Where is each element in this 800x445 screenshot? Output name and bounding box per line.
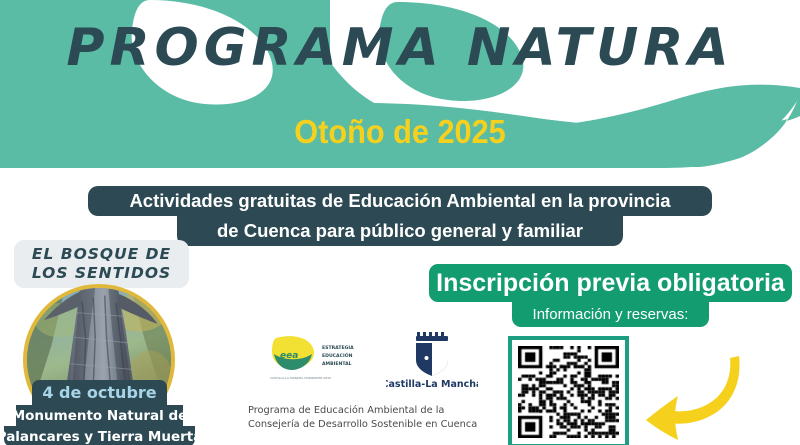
qr-code-canvas[interactable] xyxy=(518,346,619,438)
activity-title-line-2: LOS SENTIDOS xyxy=(32,264,171,283)
castilla-la-mancha-label: Castilla-La Mancha xyxy=(386,379,478,390)
activity-title-line-1: EL BOSQUE DE xyxy=(32,245,171,264)
eea-text-line-1: ESTRATEGIA xyxy=(322,345,354,351)
subtitle-banner-line-2: de Cuenca para público general y familia… xyxy=(177,216,623,246)
eea-text-line-3: AMBIENTAL xyxy=(322,361,352,367)
activity-place-line-1: Monumento Natural de xyxy=(16,405,183,426)
activity-place-line-2: Palancares y Tierra Muerta xyxy=(4,426,195,445)
footer-credit: Programa de Educación Ambiental de la Co… xyxy=(248,404,498,432)
activity-title-pill: EL BOSQUE DE LOS SENTIDOS xyxy=(14,240,189,288)
svg-text:eea: eea xyxy=(280,351,298,361)
footer-line-1: Programa de Educación Ambiental de la xyxy=(248,404,498,418)
estrategia-educacion-ambiental-logo: eea ESTRATEGIA EDUCACIÓN AMBIENTAL CASTI… xyxy=(266,334,368,384)
activity-date: 4 de octubre xyxy=(32,380,167,405)
footer-line-2: Consejería de Desarrollo Sostenible en C… xyxy=(248,418,498,432)
qr-code[interactable] xyxy=(508,336,629,445)
curved-arrow-icon xyxy=(636,352,746,444)
page-title: PROGRAMA NATURA xyxy=(0,18,800,78)
registration-headline: Inscripción previa obligatoria xyxy=(429,264,792,302)
subtitle-banner-line-1: Actividades gratuitas de Educación Ambie… xyxy=(88,186,712,216)
registration-info-label: Información y reservas: xyxy=(512,302,709,327)
castilla-la-mancha-logo: Castilla-La Mancha xyxy=(386,332,478,390)
eea-text-line-2: EDUCACIÓN xyxy=(322,352,353,359)
logos-row: eea ESTRATEGIA EDUCACIÓN AMBIENTAL CASTI… xyxy=(258,332,478,394)
season-subtitle: Otoño de 2025 xyxy=(28,113,772,151)
activity-card[interactable]: EL BOSQUE DE LOS SENTIDOS xyxy=(0,240,200,445)
eea-tagline: CASTILLA-LA MANCHA HORIZONTE 2030 xyxy=(270,376,331,380)
poster-canvas: PROGRAMA NATURA Otoño de 2025 Actividade… xyxy=(0,0,800,445)
